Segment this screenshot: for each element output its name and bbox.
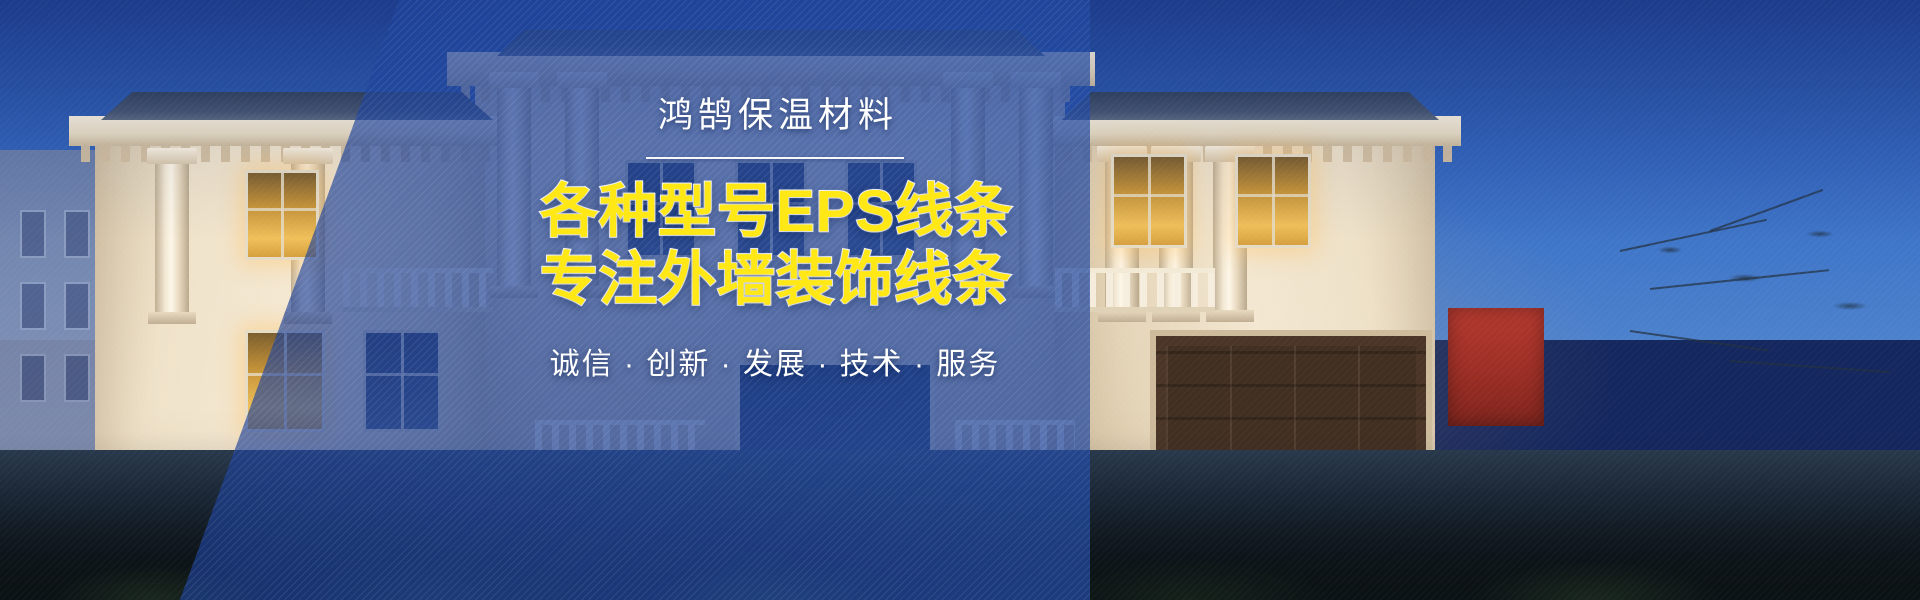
- villa-right-cornice: [1031, 116, 1461, 146]
- headline-line-1: 各种型号EPS线条: [540, 178, 1010, 245]
- red-structure: [1448, 308, 1544, 426]
- tree-silhouette: [1610, 210, 1910, 410]
- villa-balustrade: [343, 268, 493, 312]
- villa-column: [1019, 86, 1053, 286]
- villa-column: [155, 162, 189, 312]
- promo-banner: 鸿鹄保温材料 各种型号EPS线条 专注外墙装饰线条 诚信 · 创新 · 发展 ·…: [0, 0, 1920, 600]
- villa-left-cornice: [69, 116, 509, 146]
- villa-window: [1235, 154, 1311, 248]
- villa-centre-cornice: [447, 52, 1095, 86]
- headline-line-2: 专注外墙装饰线条: [540, 246, 1010, 313]
- villa-window: [1111, 154, 1187, 248]
- villa-left-roof: [101, 92, 493, 120]
- foreground-hedge: [0, 504, 1920, 600]
- villa-right-roof: [1061, 92, 1439, 120]
- banner-headline: 各种型号EPS线条 专注外墙装饰线条: [540, 178, 1010, 313]
- villa-balustrade: [1055, 268, 1215, 312]
- banner-text-block: 鸿鹄保温材料 各种型号EPS线条 专注外墙装饰线条 诚信 · 创新 · 发展 ·…: [540, 96, 1010, 383]
- title-divider: [646, 157, 904, 159]
- banner-tagline: 诚信 · 创新 · 发展 · 技术 · 服务: [540, 339, 1010, 383]
- banner-kicker-title: 鸿鹄保温材料: [540, 96, 1010, 136]
- villa-window: [363, 330, 441, 432]
- villa-column: [497, 86, 531, 286]
- villa-window: [245, 170, 319, 260]
- villa-window: [245, 330, 325, 432]
- villa-centre-roof: [497, 30, 1045, 56]
